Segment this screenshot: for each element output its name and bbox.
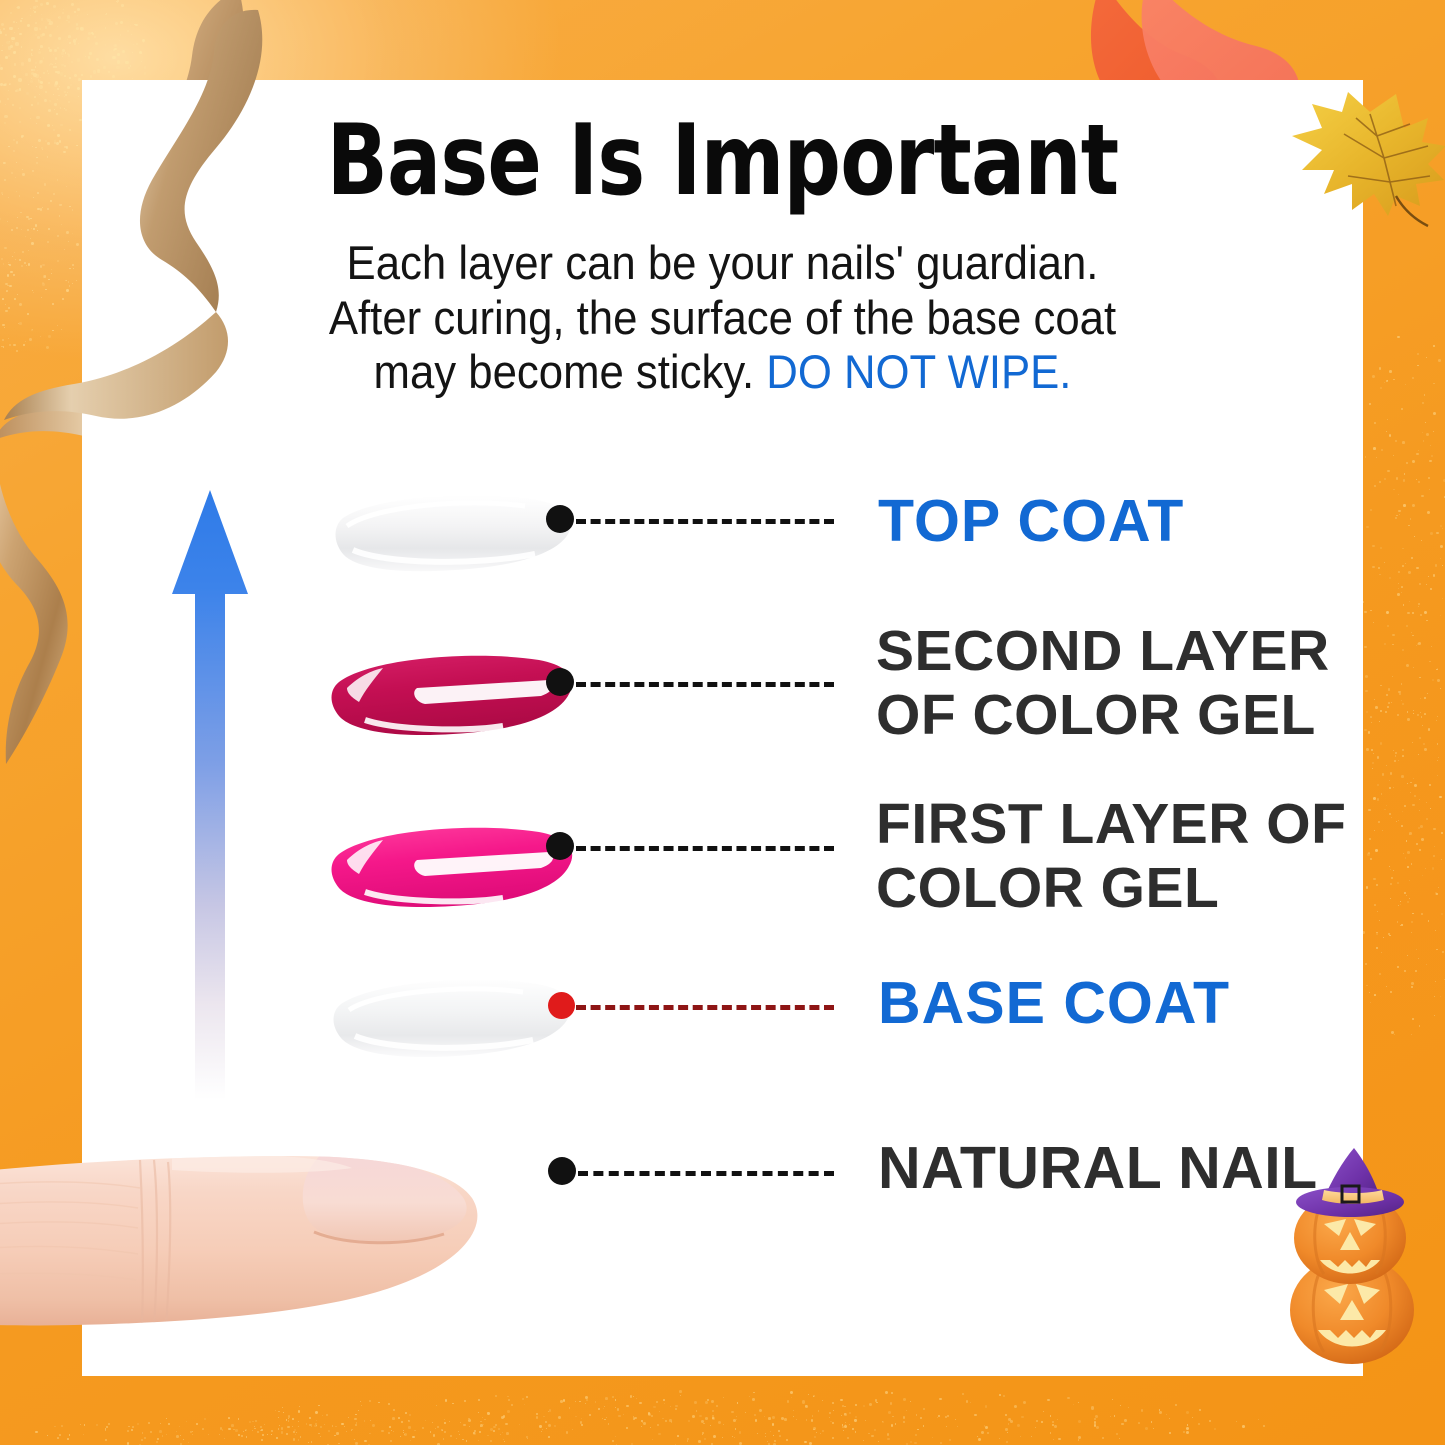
stacked-jack-o-lanterns-decoration (1262, 1140, 1440, 1370)
subtitle-line-3-plain: may become sticky. (374, 345, 767, 398)
subtitle-line-1: Each layer can be your nails' guardian. (283, 236, 1162, 291)
page-title: Base Is Important (197, 112, 1247, 212)
nail-layer-second-color-gel (325, 648, 577, 744)
layer-label-top-coat: TOP COAT (878, 488, 1184, 554)
callout-dot-top-coat (546, 505, 574, 533)
callout-line-second-layer (576, 682, 834, 687)
callout-line-natural-nail (578, 1171, 834, 1176)
layer-label-base-coat: BASE COAT (878, 970, 1230, 1036)
nail-layer-top-coat (325, 488, 577, 584)
poster-canvas: Base Is Important Each layer can be your… (0, 0, 1445, 1445)
subtitle-line-2: After curing, the surface of the base co… (283, 291, 1162, 346)
autumn-maple-leaf-icon (1278, 84, 1445, 234)
layer-label-first-color-gel: FIRST LAYER OF COLOR GEL (876, 793, 1346, 921)
do-not-wipe-warning: DO NOT WIPE. (766, 345, 1071, 398)
page-subtitle: Each layer can be your nails' guardian. … (283, 236, 1162, 400)
callout-dot-natural-nail (548, 1157, 576, 1185)
callout-dot-first-layer (546, 832, 574, 860)
callout-dot-base-coat (548, 992, 575, 1019)
upward-direction-arrow-icon (168, 486, 252, 1100)
callout-line-first-layer (576, 846, 834, 851)
finger-photo (0, 1148, 540, 1350)
callout-line-top-coat (576, 519, 834, 524)
nail-layer-base-coat (325, 972, 577, 1068)
layer-label-natural-nail: NATURAL NAIL (878, 1135, 1318, 1201)
layer-label-second-color-gel: SECOND LAYER OF COLOR GEL (876, 620, 1330, 748)
nail-layer-first-color-gel (325, 820, 577, 916)
callout-line-base-coat (576, 1005, 834, 1010)
subtitle-line-3: may become sticky. DO NOT WIPE. (283, 345, 1162, 400)
callout-dot-second-layer (546, 668, 574, 696)
